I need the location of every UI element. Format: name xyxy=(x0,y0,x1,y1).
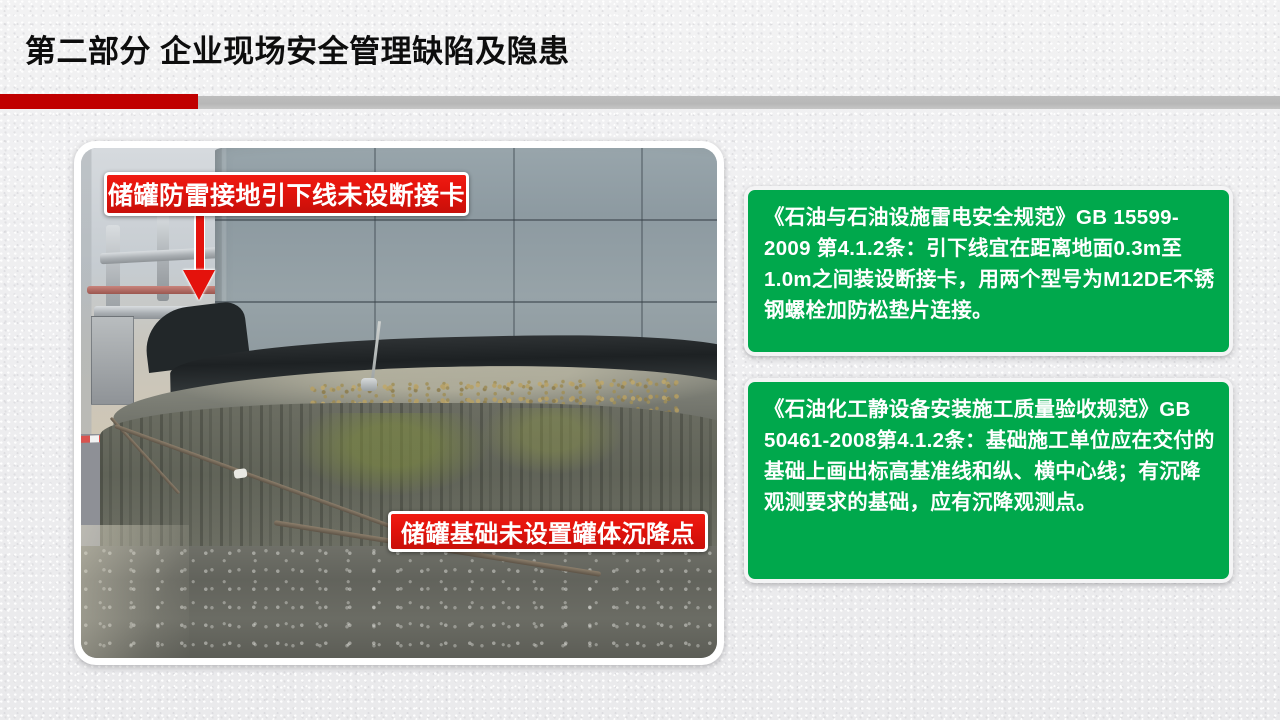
slide-root: 第二部分 企业现场安全管理缺陷及隐患 xyxy=(0,0,1280,720)
divider-gray-segment xyxy=(198,96,1280,109)
callout-lightning-downlead: 储罐防雷接地引下线未设断接卡 xyxy=(104,172,469,216)
red-down-arrow-icon xyxy=(183,214,215,299)
standard-gb15599: 《石油与石油设施雷电安全规范》GB 15599-2009 第4.1.2条：引下线… xyxy=(744,186,1233,356)
arrow-shaft xyxy=(194,214,205,272)
callout-settlement-point: 储罐基础未设置罐体沉降点 xyxy=(388,511,708,552)
standard-gb50461: 《石油化工静设备安装施工质量验收规范》GB 50461-2008第4.1.2条：… xyxy=(744,378,1233,583)
header-divider xyxy=(0,94,1280,109)
page-title: 第二部分 企业现场安全管理缺陷及隐患 xyxy=(25,26,570,71)
photo-sunlight-patch xyxy=(81,525,189,658)
photo-frame xyxy=(74,141,724,665)
photo-downlead-clamp xyxy=(361,378,377,391)
divider-red-segment xyxy=(0,94,198,109)
tank-foundation-photo xyxy=(81,148,717,658)
photo-moss-stain xyxy=(297,413,488,495)
photo-equipment-box xyxy=(91,316,134,405)
arrow-head xyxy=(183,270,215,300)
photo-moss-stain xyxy=(482,408,622,474)
